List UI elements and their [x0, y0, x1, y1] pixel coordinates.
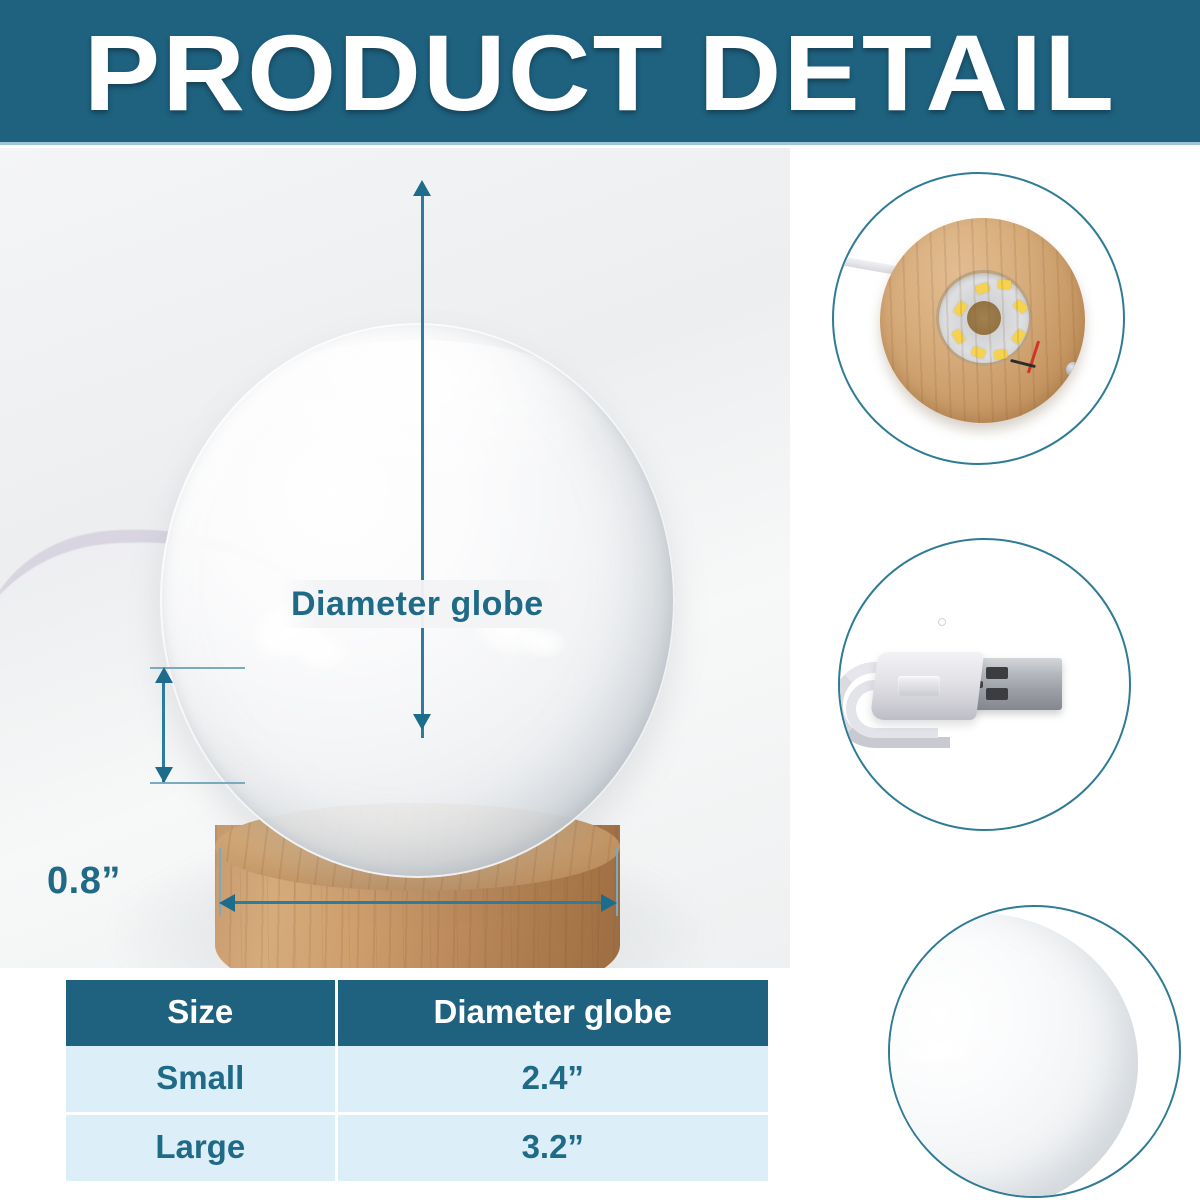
led-chip — [998, 280, 1012, 290]
size-table: Size Diameter globe Small 2.4” Large 3.2… — [66, 980, 768, 1181]
table-header-diameter: Diameter globe — [336, 980, 768, 1046]
closeup-highlight-spot — [928, 1043, 952, 1057]
size-table-body: Small 2.4” Large 3.2” — [66, 1046, 768, 1181]
table-cell-size-large: Large — [66, 1114, 336, 1182]
width-arrow-head-left — [219, 894, 235, 912]
banner-underline — [0, 142, 1200, 145]
page-title: PRODUCT DETAIL — [0, 19, 1200, 127]
led-chip — [951, 329, 965, 345]
usb-cable-marker-dot — [938, 618, 946, 626]
table-row: Small 2.4” — [66, 1046, 768, 1114]
led-base-cable — [832, 254, 898, 275]
product-photo: Diameter globe 0.8” 3.2” — [0, 148, 790, 968]
led-chip — [993, 349, 1007, 360]
product-detail-page: PRODUCT DETAIL Diameter glob — [0, 0, 1200, 1200]
size-table-header: Size Diameter globe — [66, 980, 768, 1046]
table-row: Large 3.2” — [66, 1114, 768, 1182]
diameter-arrow-head-bottom — [413, 714, 431, 730]
led-board — [936, 270, 1032, 366]
screw-icon — [1066, 362, 1081, 377]
usb-cable-inset — [838, 538, 1131, 831]
led-chip — [1013, 299, 1029, 314]
led-base-wood-disc — [880, 218, 1085, 423]
led-chip — [971, 346, 986, 359]
black-wire — [1010, 359, 1036, 368]
height-arrow-head-top — [155, 667, 173, 683]
globe-surface-closeup — [888, 913, 1138, 1198]
red-wire — [1027, 340, 1040, 373]
height-arrow-line — [162, 670, 165, 782]
usb-trident-icon — [898, 676, 940, 696]
width-arrow-line — [222, 901, 614, 904]
usb-contact-slot — [986, 667, 1008, 679]
led-chip — [975, 282, 990, 295]
wooden-led-base-inset — [832, 172, 1125, 465]
height-arrow-head-bottom — [155, 767, 173, 783]
table-header-size: Size — [66, 980, 336, 1046]
usb-contact-slot — [986, 688, 1008, 700]
globe-closeup-inset — [888, 905, 1181, 1198]
led-chip — [953, 301, 968, 317]
led-chip — [1011, 329, 1026, 345]
width-arrow-head-right — [601, 894, 617, 912]
diameter-arrow-line — [421, 193, 424, 738]
table-cell-size-small: Small — [66, 1046, 336, 1114]
table-cell-diameter-large: 3.2” — [336, 1114, 768, 1182]
led-board-center-hole — [967, 301, 1001, 335]
base-height-label: 0.8” — [47, 860, 121, 903]
table-header-row: Size Diameter globe — [66, 980, 768, 1046]
table-cell-diameter-small: 2.4” — [336, 1046, 768, 1114]
diameter-label: Diameter globe — [291, 585, 544, 624]
header-banner: PRODUCT DETAIL — [0, 0, 1200, 145]
diameter-arrow-head-top — [413, 180, 431, 196]
